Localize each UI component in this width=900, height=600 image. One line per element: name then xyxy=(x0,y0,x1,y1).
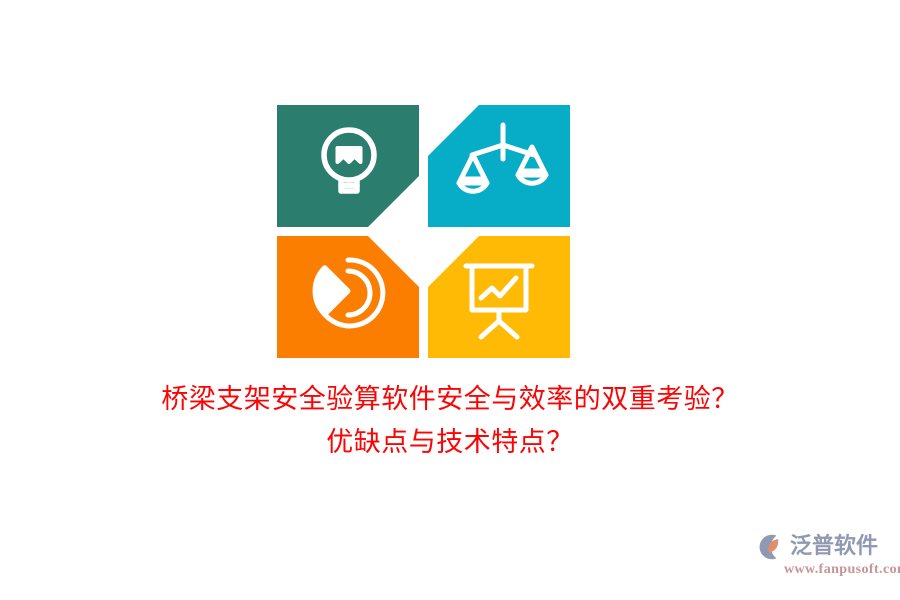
page-title-line-2: 优缺点与技术特点？ xyxy=(0,421,900,464)
tile-bottom-left xyxy=(277,236,419,358)
tile-top-left xyxy=(277,105,419,227)
pinwheel-infographic xyxy=(277,105,570,358)
tile-top-left-shape xyxy=(277,105,419,227)
watermark-brand-row: 泛普软件 xyxy=(758,533,878,561)
watermark-url: www.fanpusoft.com xyxy=(784,562,900,578)
page-title: 桥梁支架安全验算软件安全与效率的双重考验？ 优缺点与技术特点？ xyxy=(0,378,900,464)
tile-top-right xyxy=(428,105,570,227)
watermark-brand: 泛普软件 xyxy=(790,534,878,560)
page-title-line-1: 桥梁支架安全验算软件安全与效率的双重考验？ xyxy=(0,378,900,421)
fanpu-crescent-logo-icon xyxy=(758,533,786,561)
tile-top-right-shape xyxy=(428,105,570,227)
page-canvas: 桥梁支架安全验算软件安全与效率的双重考验？ 优缺点与技术特点？ 泛普软件 www… xyxy=(0,0,900,600)
tile-bottom-right xyxy=(428,236,570,358)
tile-bottom-left-shape xyxy=(277,236,419,358)
watermark: 泛普软件 www.fanpusoft.com xyxy=(758,533,894,585)
